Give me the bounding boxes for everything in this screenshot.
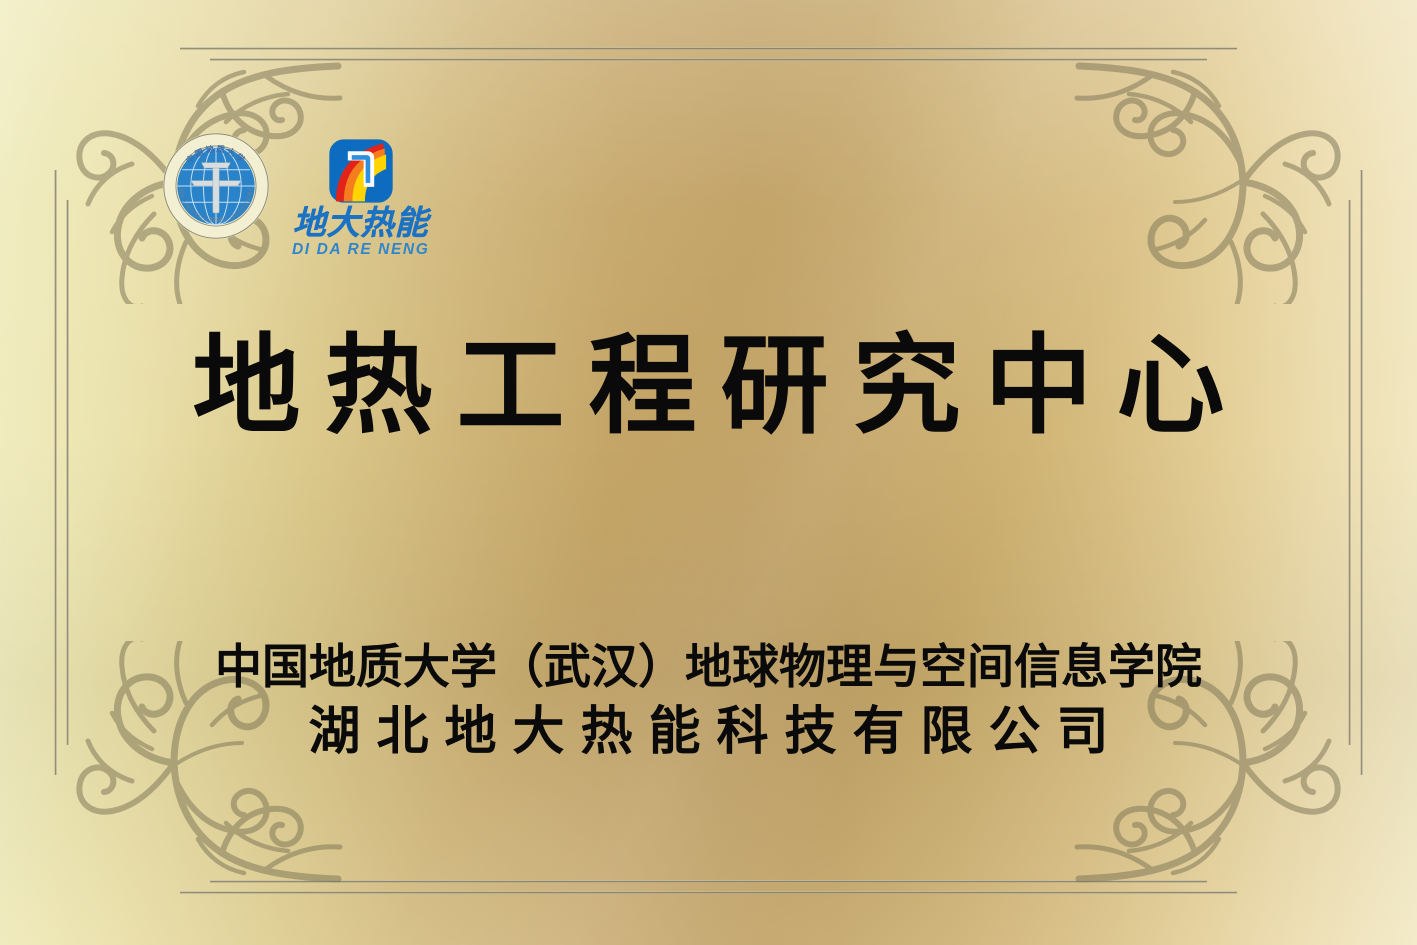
border-line-top-inner bbox=[210, 58, 1207, 61]
china-university-of-geosciences-seal-icon: 中国地质大学 CHINA UNIVERSITY OF GEOSCIENCES 1… bbox=[162, 132, 270, 240]
logo-row: 中国地质大学 CHINA UNIVERSITY OF GEOSCIENCES 1… bbox=[162, 132, 429, 258]
didareneng-pinyin-text: DI DA RE NENG bbox=[292, 242, 429, 258]
didareneng-chinese-text: 地大热能 bbox=[293, 206, 429, 239]
subtitle-block: 中国地质大学（武汉）地球物理与空间信息学院 湖北地大热能科技有限公司 bbox=[0, 640, 1417, 764]
didareneng-logo: 地大热能 DI DA RE NENG bbox=[292, 132, 429, 258]
border-line-bottom-inner bbox=[210, 880, 1207, 883]
corner-flourish-top-right-icon bbox=[1061, 14, 1391, 304]
didareneng-mark-icon bbox=[328, 138, 394, 204]
page-title: 地热工程研究中心 bbox=[0, 330, 1417, 443]
subtitle-university-line: 中国地质大学（武汉）地球物理与空间信息学院 bbox=[0, 640, 1417, 695]
border-line-bottom-outer bbox=[180, 891, 1237, 894]
svg-text:1952: 1952 bbox=[210, 217, 222, 223]
border-line-top-outer bbox=[180, 47, 1237, 50]
subtitle-company-line: 湖北地大热能科技有限公司 bbox=[0, 701, 1417, 763]
award-plaque: 中国地质大学 CHINA UNIVERSITY OF GEOSCIENCES 1… bbox=[0, 0, 1417, 945]
